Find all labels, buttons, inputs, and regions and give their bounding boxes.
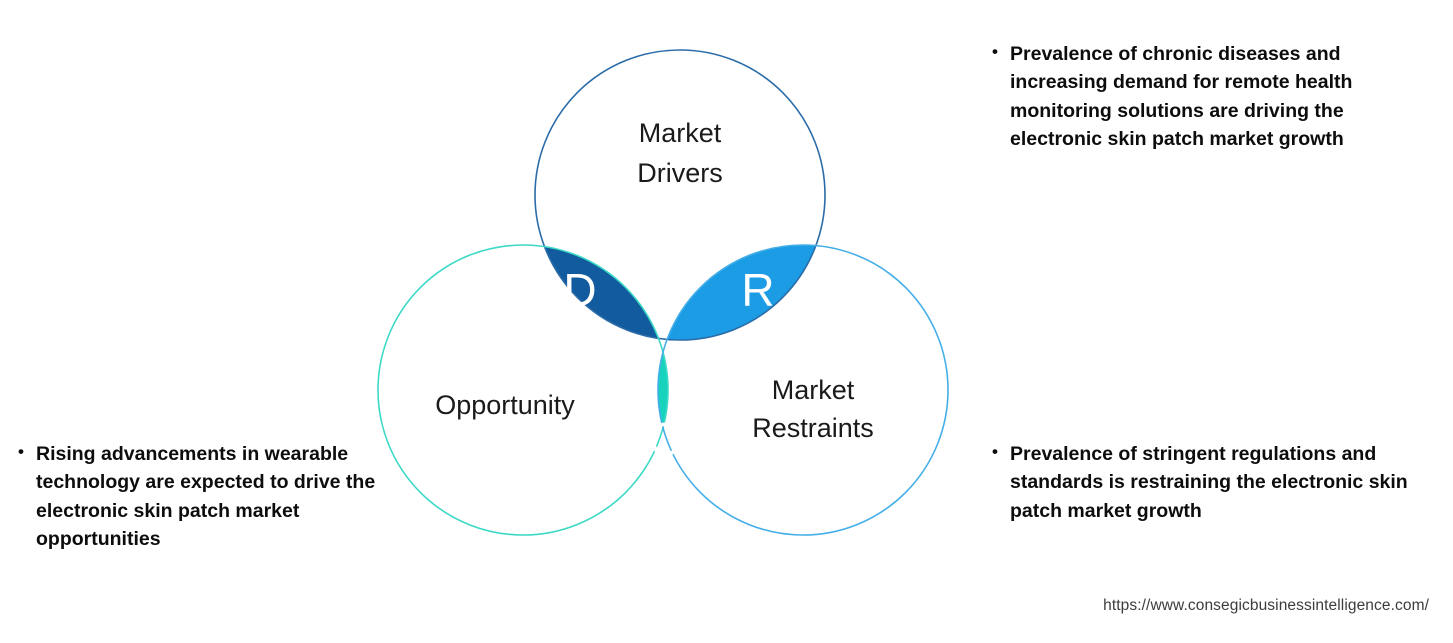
bullet-icon: • — [992, 40, 1010, 65]
venn-letter-d: D — [563, 264, 596, 316]
venn-label-restraints-line1: Market — [772, 375, 855, 405]
callout-opportunity-text: Rising advancements in wearable technolo… — [36, 440, 393, 553]
venn-label-drivers-line1: Market — [639, 118, 722, 148]
venn-lens-opportunity — [330, 10, 990, 580]
venn-label-opportunity: Opportunity — [435, 390, 575, 420]
bullet-icon: • — [992, 440, 1010, 465]
callout-market-drivers: • Prevalence of chronic diseases and inc… — [992, 40, 1412, 153]
source-url[interactable]: https://www.consegicbusinessintelligence… — [1103, 597, 1429, 615]
callout-market-restraints-text: Prevalence of stringent regulations and … — [1010, 440, 1412, 525]
venn-letter-r: R — [741, 264, 774, 316]
callout-market-restraints: • Prevalence of stringent regulations an… — [992, 440, 1412, 525]
venn-diagram-svg: Market Drivers Opportunity Market Restra… — [330, 10, 990, 580]
venn-label-drivers-line2: Drivers — [637, 158, 723, 188]
callout-market-drivers-text: Prevalence of chronic diseases and incre… — [1010, 40, 1412, 153]
bullet-icon: • — [18, 440, 36, 465]
venn-letter-o: O — [648, 413, 684, 465]
venn-diagram: Market Drivers Opportunity Market Restra… — [330, 10, 990, 580]
callout-opportunity: • Rising advancements in wearable techno… — [18, 440, 393, 553]
venn-label-restraints-line2: Restraints — [752, 413, 874, 443]
